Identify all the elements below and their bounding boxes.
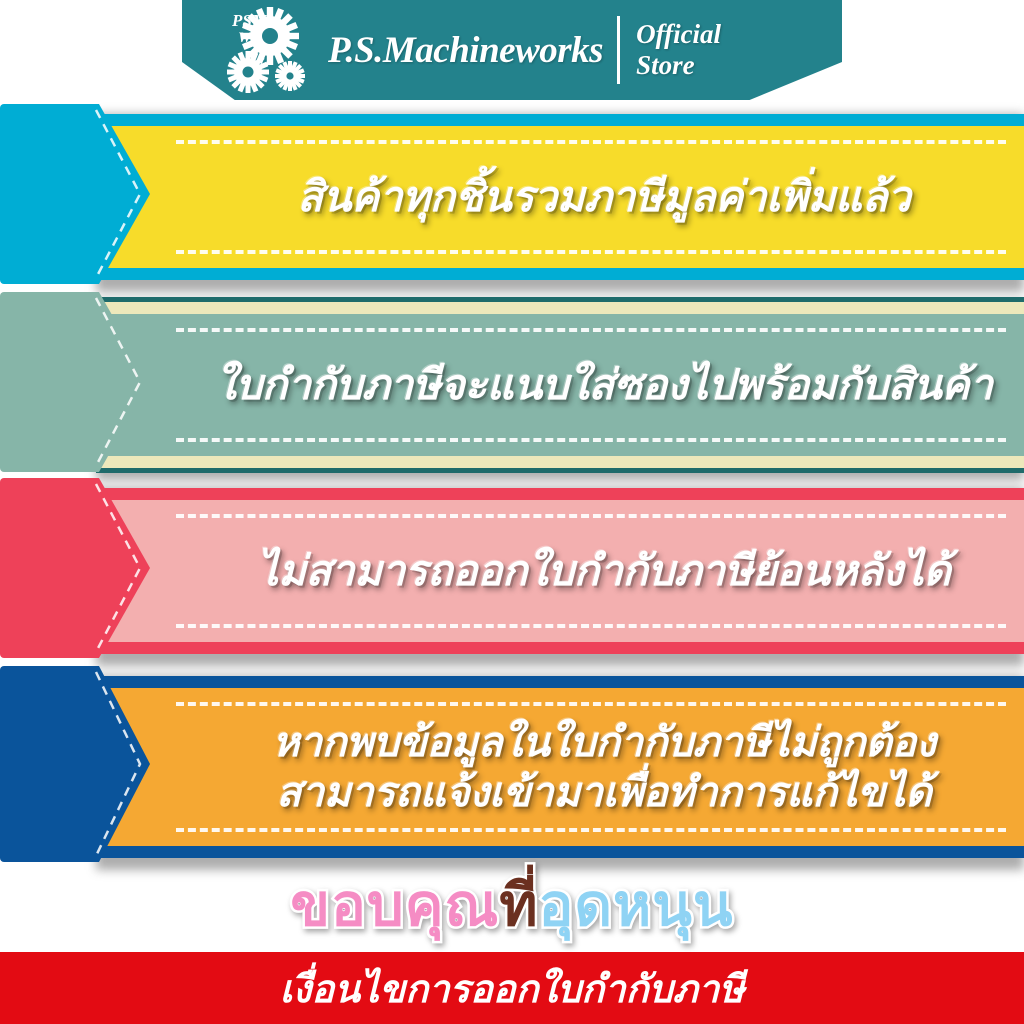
banner-body: ใบกำกับภาษีจะแนบใส่ซองไปพร้อมกับสินค้า [96, 302, 1024, 468]
condition-banner-2: ใบกำกับภาษีจะแนบใส่ซองไปพร้อมกับสินค้า [0, 292, 1024, 472]
banner-text-4: หากพบข้อมูลในใบกำกับภาษีไม่ถูกต้อง สามาร… [96, 717, 1024, 817]
header-divider [617, 16, 620, 84]
official-line-2: Store [636, 50, 721, 81]
banner-text-4-line-2: สามารถแจ้งเข้ามาเพื่อทำการแก้ไขได้ [206, 767, 1002, 817]
banner-dashed-line-top [176, 514, 1006, 518]
condition-banner-3: ไม่สามารถออกใบกำกับภาษีย้อนหลังได้ [0, 478, 1024, 658]
logo-initials-bottom-text: W [238, 30, 253, 46]
banner-text-1: สินค้าทุกชิ้นรวมภาษีมูลค่าเพิ่มแล้ว [96, 171, 1024, 222]
official-store-label: Official Store [636, 19, 721, 81]
logo-initials-top-text: PSM [231, 11, 268, 30]
official-line-1: Official [636, 19, 721, 50]
thank-you-part-2: ที่ [499, 873, 538, 938]
banner-body: หากพบข้อมูลในใบกำกับภาษีไม่ถูกต้อง สามาร… [96, 676, 1024, 858]
banner-text-4-line-1: หากพบข้อมูลในใบกำกับภาษีไม่ถูกต้อง [206, 717, 1002, 767]
store-header-banner: PSM W P.S.Machineworks Official Store [182, 0, 842, 100]
banner-dashed-line-top [176, 702, 1006, 706]
footer-title-bar: เงื่อนไขการออกใบกำกับภาษี [0, 952, 1024, 1024]
banner-dashed-line-bottom [176, 624, 1006, 628]
thank-you-text: ขอบคุณที่อุดหนุน [290, 877, 733, 935]
brand-name: P.S.Machineworks [328, 29, 603, 72]
banner-dashed-line-top [176, 328, 1006, 332]
thank-you-artwork: ขอบคุณที่อุดหนุน [0, 856, 1024, 956]
banner-dashed-line-top [176, 140, 1006, 144]
banner-dashed-line-bottom [176, 438, 1006, 442]
thank-you-part-3: อุดหนุน [539, 873, 734, 938]
footer-title: เงื่อนไขการออกใบกำกับภาษี [280, 958, 744, 1019]
banner-body: สินค้าทุกชิ้นรวมภาษีมูลค่าเพิ่มแล้ว [96, 114, 1024, 280]
header-content: PSM W P.S.Machineworks Official Store [182, 0, 842, 100]
banner-text-3: ไม่สามารถออกใบกำกับภาษีย้อนหลังได้ [96, 545, 1024, 596]
condition-banner-4: หากพบข้อมูลในใบกำกับภาษีไม่ถูกต้อง สามาร… [0, 666, 1024, 862]
condition-banner-1: สินค้าทุกชิ้นรวมภาษีมูลค่าเพิ่มแล้ว [0, 104, 1024, 284]
banner-dashed-line-bottom [176, 828, 1006, 832]
banner-dashed-line-bottom [176, 250, 1006, 254]
gear-logo-icon: PSM W [216, 6, 334, 94]
thank-you-part-1: ขอบคุณ [290, 873, 499, 938]
banner-text-2: ใบกำกับภาษีจะแนบใส่ซองไปพร้อมกับสินค้า [96, 359, 1024, 410]
banner-body: ไม่สามารถออกใบกำกับภาษีย้อนหลังได้ [96, 488, 1024, 654]
promo-graphic: PSM W P.S.Machineworks Official Store สิ… [0, 0, 1024, 1024]
